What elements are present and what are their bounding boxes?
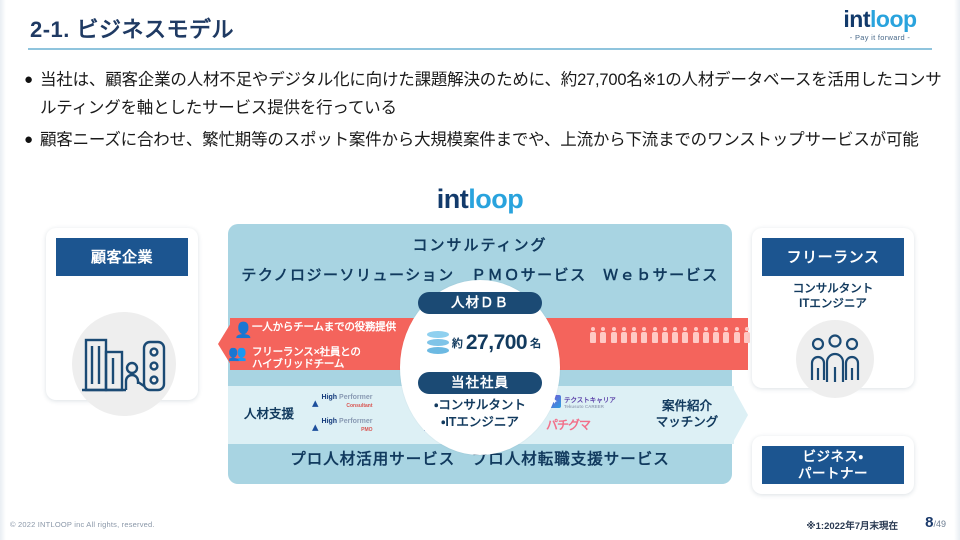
person-figure-icon — [723, 327, 729, 343]
business-partner-card-title: ビジネス・ パートナー — [762, 446, 904, 484]
person-figure-icon — [682, 327, 688, 343]
person-figure-icon — [713, 327, 719, 343]
bullet-list: ● 当社は、顧客企業の人材不足やデジタル化に向けた課題解決のために、約27,70… — [24, 66, 942, 158]
brand-logo-tekusuto-career: ✦ テクストキャリア Tekusuto CAREER — [548, 394, 616, 409]
services-line-1: コンサルティング — [228, 224, 732, 255]
brand-logo-text: テクストキャリア Tekusuto CAREER — [564, 394, 616, 409]
own-employees-pill: 当社社員 — [418, 372, 542, 394]
title-underline — [28, 48, 932, 50]
blue-arrow-label-left: 人材支援 — [236, 406, 302, 422]
talent-database-oval: 人材ＤＢ 約 27,700 名 当社社員 ・コンサルタント ・ITエンジニア — [400, 280, 560, 455]
business-model-diagram: intloop コンサルティング テクノロジーソリューション ＰＭＯサービス Ｗ… — [0, 180, 960, 510]
person-figure-icon — [611, 327, 617, 343]
page-number-total: /49 — [933, 519, 946, 529]
high-performer-mark-icon: ▴ — [312, 396, 319, 409]
person-figure-icon — [600, 327, 606, 343]
brand-logo-text: High Performer Consultant — [322, 394, 373, 410]
freelance-card-title: フリーランス — [762, 238, 904, 276]
person-figure-icon — [744, 327, 750, 343]
bullet-item: ● 当社は、顧客企業の人材不足やデジタル化に向けた課題解決のために、約27,70… — [24, 66, 942, 122]
person-figure-icon — [703, 327, 709, 343]
brand-logo-pachiguma: パチグマ — [546, 416, 590, 433]
logo-text-loop: loop — [870, 6, 917, 32]
business-partner-card: ビジネス・ パートナー — [752, 436, 914, 494]
page-number: 8/49 — [925, 514, 946, 531]
high-performer-mark-icon: ▴ — [312, 420, 319, 433]
employee-roles-list: ・コンサルタント ・ITエンジニア — [410, 397, 550, 431]
blue-arrow-head — [732, 386, 748, 444]
freelance-card-subtitle: コンサルタント ITエンジニア — [752, 282, 914, 312]
count-value: 27,700 — [466, 331, 527, 355]
slide-header: 2-1. ビジネスモデル intloop - Pay it forward - — [0, 0, 960, 56]
bullet-text: 当社は、顧客企業の人材不足やデジタル化に向けた課題解決のために、約27,700名… — [40, 66, 942, 122]
three-people-icon — [808, 334, 862, 384]
person-icon: 👤 — [234, 323, 253, 338]
bullet-marker: ● — [24, 66, 40, 94]
bullet-item: ● 顧客ニーズに合わせ、繁忙期等のスポット案件から大規模案件までや、上流から下流… — [24, 126, 942, 154]
person-figure-icon — [652, 327, 658, 343]
diagram-logo-int: int — [437, 184, 469, 214]
customer-company-card: 顧客企業 — [46, 228, 198, 400]
intloop-logo: intloop - Pay it forward - — [820, 8, 940, 50]
bullet-marker: ● — [24, 126, 40, 154]
logo-text-int: int — [843, 6, 870, 32]
person-figure-icon — [631, 327, 637, 343]
person-figure-icon — [662, 327, 668, 343]
footnote-text: ※1:2022年7月末現在 — [806, 518, 898, 532]
logo-tagline: - Pay it forward - — [820, 33, 940, 42]
talent-db-pill: 人材ＤＢ — [418, 292, 542, 314]
copyright-text: © 2022 INTLOOP inc All rights, reserved. — [10, 520, 155, 529]
red-arrow-label-1: 一人からチームまでの役務提供 — [252, 321, 432, 333]
customer-card-title: 顧客企業 — [56, 238, 188, 276]
person-figure-icon — [693, 327, 699, 343]
diagram-intloop-logo: intloop — [405, 186, 555, 213]
person-figure-icon — [590, 327, 596, 343]
people-row-icons — [590, 327, 750, 343]
brand-logo-text: パチグマ — [546, 416, 590, 433]
diagram-logo-loop: loop — [468, 184, 523, 214]
bullet-text: 顧客ニーズに合わせ、繁忙期等のスポット案件から大規模案件までや、上流から下流まで… — [40, 126, 919, 154]
count-unit: 名 — [530, 335, 541, 351]
talent-db-count: 約 27,700 名 — [414, 320, 554, 366]
page-title: 2-1. ビジネスモデル — [30, 12, 234, 44]
slide-canvas: 2-1. ビジネスモデル intloop - Pay it forward - … — [0, 0, 960, 540]
two-people-icon: 👥 — [228, 346, 247, 361]
person-figure-icon — [621, 327, 627, 343]
freelance-card: フリーランス コンサルタント ITエンジニア — [752, 228, 914, 388]
brand-logo-high-performer-pmo: ▴ High Performer PMO — [312, 418, 373, 434]
person-figure-icon — [672, 327, 678, 343]
brand-logo-high-performer-consultant: ▴ High Performer Consultant — [312, 394, 373, 410]
person-figure-icon — [641, 327, 647, 343]
red-arrow-head — [218, 318, 234, 370]
building-people-icon — [82, 326, 168, 400]
database-icon — [427, 331, 449, 355]
person-figure-icon — [734, 327, 740, 343]
count-approx-prefix: 約 — [452, 335, 463, 351]
blue-arrow-label-right: 案件紹介 マッチング — [644, 398, 730, 430]
brand-logo-text: High Performer PMO — [322, 418, 373, 434]
